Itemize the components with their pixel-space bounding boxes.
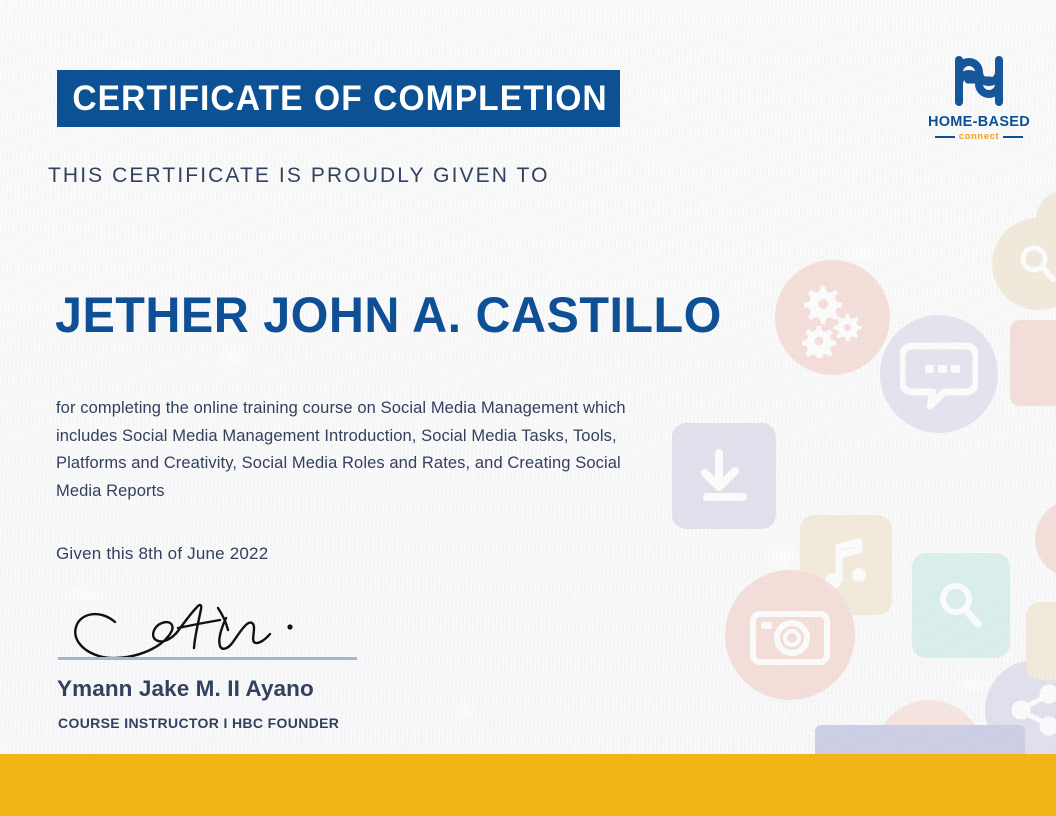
logo-dash-left — [935, 136, 955, 138]
camera-icon — [1026, 602, 1056, 680]
logo-tagline: connect — [959, 131, 1000, 142]
follow-bubble: FOLLOW — [815, 725, 1025, 755]
home-based-connect-h-monogram-icon — [927, 50, 1031, 112]
given-to-label: THIS CERTIFICATE IS PROUDLY GIVEN TO — [48, 164, 550, 188]
signature-rule — [58, 657, 357, 660]
signer-role: COURSE INSTRUCTOR I HBC FOUNDER — [58, 715, 339, 731]
course-description: for completing the online training cours… — [56, 395, 656, 505]
page-title: CERTIFICATE OF COMPLETION — [57, 79, 608, 119]
logo-tagline-row: connect — [927, 131, 1031, 142]
signer-name: Ymann Jake M. II Ayano — [57, 676, 314, 702]
issue-date: Given this 8th of June 2022 — [56, 544, 268, 564]
certificate-title-banner: CERTIFICATE OF COMPLETION — [57, 70, 620, 127]
chat-bubble-icon — [880, 315, 998, 433]
footer-accent-band — [0, 754, 1056, 816]
magnifier-icon — [1035, 500, 1056, 578]
magnifier-icon — [912, 553, 1010, 658]
certificate-canvas: FOLLOW MESSAGE CERTIFICATE OF COMPLETION — [0, 0, 1056, 816]
document-icon — [1010, 320, 1056, 406]
brand-logo: HOME-BASED connect — [927, 50, 1031, 145]
signature-image — [58, 596, 378, 666]
gears-icon — [775, 260, 890, 375]
logo-dash-right — [1003, 136, 1023, 138]
camera-icon — [725, 570, 855, 700]
logo-wordmark: HOME-BASED — [927, 114, 1031, 130]
recipient-name: JETHER JOHN A. CASTILLO — [55, 286, 722, 344]
social-media-icon-collage: FOLLOW MESSAGE — [640, 170, 1056, 755]
download-icon — [672, 423, 776, 529]
